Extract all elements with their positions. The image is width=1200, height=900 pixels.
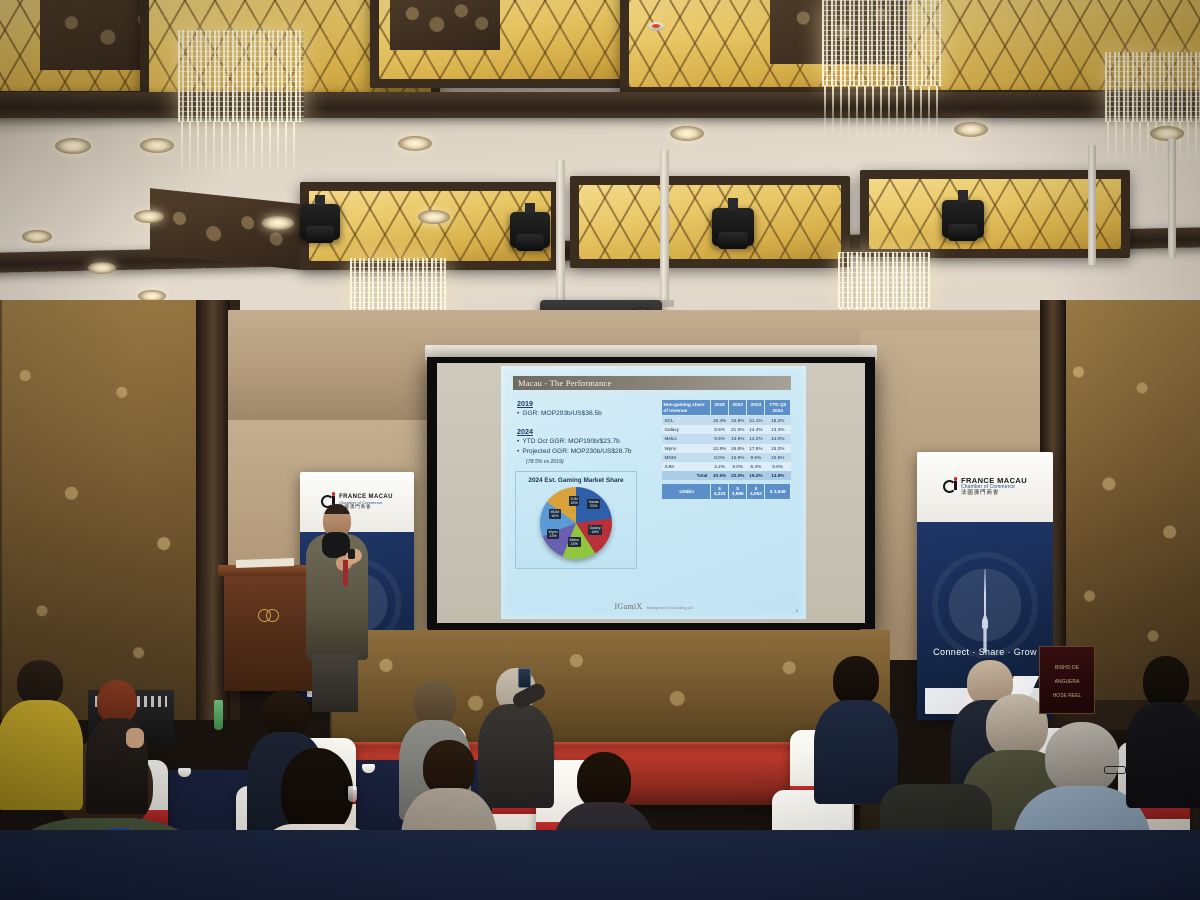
attendee-hand [126,728,144,748]
pie-label-mgm: MGM16% [549,509,561,519]
slide-bullet-column: 2019 • GGR: MOP293b/US$36.5b 2024 • YTD … [517,399,657,465]
table-cell-total-value: 22.0% [729,471,747,480]
table-cell-value: 6.4% [747,462,765,471]
crystal-chandelier-3 [822,0,942,86]
table-cell-value: 12.9% [729,453,747,462]
table-col-header: 2023 [747,400,765,416]
pie-label-galaxy: Galaxy18% [588,525,602,535]
slide-bullet: • Projected GGR: MOP230b/US$28.7b [517,448,657,456]
table-usd-row: US$bn$ 4,233$ 3,596$ 4,052$ 3,548 [662,484,791,499]
recessed-downlight [670,126,704,141]
event-poster: BISHO DE ANGUERA HOSE REEL [1039,646,1095,714]
poster-line2: ANGUERA [1044,679,1090,685]
table-cell-value: 9.0% [729,462,747,471]
table-row: SCL16.4%34.9%21.1%19.2% [662,416,791,426]
table-cell-value: 10.5% [765,453,791,462]
stage-spotlight [942,200,984,238]
table-cell-value: 21.0% [729,425,747,434]
table-cell-usd-label: US$bn [662,484,711,499]
slide-title: Macau - The Performance [513,378,611,388]
lighting-truss-vertical [556,160,565,318]
attendee-head [281,748,353,836]
banner-tagline-right: Connect · Share · Grow [917,647,1053,657]
attendee-glasses-icon [1104,766,1126,774]
table-cell-value: 14.4% [747,425,765,434]
table-row: Melco9.5%13.9%14.2%14.0% [662,434,791,443]
table-row: MGM8.0%12.9%9.6%10.5% [662,453,791,462]
attendee-head [262,690,310,738]
recessed-downlight [954,122,988,137]
igamix-logo: IGamiX [614,602,642,611]
table-col-header: Non-gaming share of revenue [662,400,711,416]
presenter-remote[interactable] [348,549,355,559]
audience-member [84,680,150,800]
lighting-truss-vertical [1168,138,1176,258]
table-row: Galaxy8.5%21.0%14.4%13.3% [662,425,791,434]
bullet-text: YTD Oct GGR: MOP190b/$23.7b [522,438,619,446]
crystal-chandelier-4 [838,252,930,308]
table-row: Wynn12.8%26.8%17.9%15.2% [662,444,791,453]
slide-page-number: 5 [796,608,798,613]
table-cell-total-value: 15.2% [747,471,765,480]
table-cell-value: 13.3% [765,425,791,434]
banner-org-line3: 法國澳門商會 [961,491,1027,497]
table-cell-value: 9.5% [711,434,729,443]
table-cell-value: 2.2% [711,462,729,471]
water-bottle [214,700,223,730]
table-cell-value: 19.2% [765,416,791,426]
bullet-dot: • [517,438,519,446]
stage-spotlight [300,204,340,240]
slide-footer: IGamiX Management & Consulting Ltd [501,596,806,614]
table-col-header: 2019 [711,400,729,416]
stage-spotlight [510,212,550,248]
lighting-truss-vertical [1088,145,1096,265]
ceiling-coffer-frame-7 [570,176,850,268]
slide-bullet: • YTD Oct GGR: MOP190b/$23.7b [517,438,657,446]
bullet-dot: • [517,410,519,418]
bullet-text: Projected GGR: MOP230b/US$28.7b [522,448,631,456]
slide-year-2019: 2019 [517,399,657,408]
recessed-downlight [134,210,164,223]
table-cell-operator: Melco [662,434,711,443]
table-cell-operator: MGM [662,453,711,462]
table-col-header: YTD Q3 2024 [765,400,791,416]
recessed-downlight [398,136,432,151]
table-cell-total-value: 13.8% [765,471,791,480]
attendee-head [1143,656,1189,708]
lighting-truss-vertical [660,150,669,300]
pie-label-melco: Melco15% [568,537,581,547]
table-cell-operator: Wynn [662,444,711,453]
pie-label-sands: Sands23% [587,499,600,509]
bullet-text: GGR: MOP293b/US$36.5b [522,410,602,418]
gold-patterned-wall-left [0,300,210,720]
pie-chart-panel: 2024 Est. Gaming Market Share Sands23% G… [515,471,637,569]
attendee-head [833,656,879,706]
water-glass [348,786,357,802]
table-row: SJM2.2%9.0%6.4%5.6% [662,462,791,471]
recessed-downlight [262,216,294,230]
poster-line1: BISHO DE [1044,665,1090,671]
table-cell-value: 8.5% [711,425,729,434]
table-cell-usd-value: $ 3,596 [729,484,747,499]
table-cell-value: 26.8% [729,444,747,453]
table-cell-value: 15.2% [765,444,791,453]
table-cell-value: 12.8% [711,444,729,453]
table-cell-value: 8.0% [711,453,729,462]
poster-line3: HOSE REEL [1044,693,1090,699]
table-cell-value: 34.9% [729,416,747,426]
screen-surface: Macau - The Performance 2019 • GGR: MOP2… [437,363,865,623]
recessed-downlight [22,230,52,243]
pie-chart-title: 2024 Est. Gaming Market Share [516,477,636,485]
bullet-dot: • [517,448,519,456]
table-cell-operator: Galaxy [662,425,711,434]
stage-spotlight [712,208,754,246]
speaker-lanyard [343,560,348,586]
slide-title-bar: Macau - The Performance [513,376,791,390]
recessed-downlight [88,262,116,274]
smoke-detector [648,22,664,31]
pie-label-sjm: SJM15% [569,496,579,506]
presentation-slide: Macau - The Performance 2019 • GGR: MOP2… [501,366,806,619]
table-cell-value: 17.9% [747,444,765,453]
table-cell-usd-value: $ 3,548 [765,484,791,499]
audience-member [1130,656,1200,786]
audience-member [816,656,896,776]
table-cell-value: 21.1% [747,416,765,426]
gold-patterned-wall-right [1062,300,1200,700]
attendee-torso [0,700,83,810]
slide-year-2024: 2024 [517,427,657,436]
floor-carpet [0,830,1200,900]
pie-chart: Sands23% Galaxy18% Melco15% Wynn13% MGM1 [540,487,612,559]
crystal-chandelier-2 [350,258,446,318]
recessed-downlight [55,138,91,154]
ceiling-scroll-panel-2 [390,0,500,50]
recessed-downlight [1150,126,1184,141]
table-cell-value: 14.0% [765,434,791,443]
table-cell-usd-value: $ 4,052 [747,484,765,499]
table-cell-value: 14.2% [747,434,765,443]
table-cell-total-label: Total [662,471,711,480]
crystal-chandelier-5 [1105,52,1200,122]
projection-screen: Macau - The Performance 2019 • GGR: MOP2… [427,357,875,629]
table-cell-value: 16.4% [711,416,729,426]
audience-member [0,660,80,790]
bullet-subnote: (78.5% vs 2019) [526,459,657,465]
podium-emblem-icon [258,609,284,622]
table-cell-usd-value: $ 4,233 [711,484,729,499]
fmcc-logo-icon [943,480,957,494]
presenter-speaker [300,500,374,700]
recessed-downlight [140,138,174,153]
table-total-row: Total10.5%22.0%15.2%13.8% [662,471,791,480]
table-cell-total-value: 10.5% [711,471,729,480]
crystal-chandelier-1 [178,30,304,122]
pie-label-wynn: Wynn13% [547,529,559,539]
table-cell-value: 5.6% [765,462,791,471]
table-cell-value: 9.6% [747,453,765,462]
table-col-header: 2022 [729,400,747,416]
igamix-logo-subtitle: Management & Consulting Ltd [647,606,693,610]
table-cell-operator: SCL [662,416,711,426]
recessed-downlight [418,210,450,224]
smartphone[interactable] [518,668,531,688]
table-header-row: Non-gaming share of revenue 2019 2022 20… [662,400,791,416]
conference-room-photo: Macau - The Performance 2019 • GGR: MOP2… [0,0,1200,900]
banner-header-right: FRANCE MACAU Chamber of Commerce 法國澳門商會 [917,452,1053,522]
table-cell-operator: SJM [662,462,711,471]
non-gaming-share-table: Non-gaming share of revenue 2019 2022 20… [661,399,791,500]
attendee-head [1045,722,1119,794]
table-cell-value: 13.9% [729,434,747,443]
attendee-torso [1126,702,1200,808]
slide-bullet: • GGR: MOP293b/US$36.5b [517,410,657,418]
